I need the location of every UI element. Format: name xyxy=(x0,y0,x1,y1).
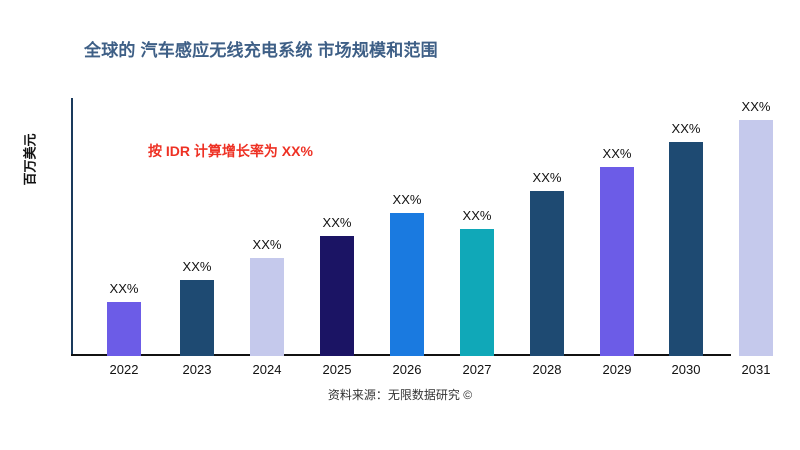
x-axis-tick-label: 2027 xyxy=(463,362,492,377)
bar-rect[interactable] xyxy=(390,213,424,356)
x-axis-tick-label: 2025 xyxy=(323,362,352,377)
bar-group[interactable]: XX%2023 xyxy=(180,0,214,450)
bar-group[interactable]: XX%2022 xyxy=(107,0,141,450)
bar-value-label: XX% xyxy=(183,259,212,274)
bar-value-label: XX% xyxy=(672,121,701,136)
bar-rect[interactable] xyxy=(460,229,494,356)
bar-group[interactable]: XX%2030 xyxy=(669,0,703,450)
x-axis-tick-label: 2029 xyxy=(603,362,632,377)
bar-rect[interactable] xyxy=(669,142,703,356)
market-size-bar-chart: 全球的 汽车感应无线充电系统 市场规模和范围 百万美元 按 IDR 计算增长率为… xyxy=(0,0,800,450)
x-axis-tick-label: 2023 xyxy=(183,362,212,377)
x-axis-tick-label: 2028 xyxy=(533,362,562,377)
bar-group[interactable]: XX%2028 xyxy=(530,0,564,450)
bar-group[interactable]: XX%2025 xyxy=(320,0,354,450)
source-note: 资料来源：无限数据研究 © xyxy=(0,386,800,403)
x-axis-tick-label: 2026 xyxy=(393,362,422,377)
x-axis-tick-label: 2031 xyxy=(742,362,771,377)
bar-rect[interactable] xyxy=(530,191,564,356)
plot-area: XX%2022XX%2023XX%2024XX%2025XX%2026XX%20… xyxy=(0,0,800,450)
bar-value-label: XX% xyxy=(603,146,632,161)
bar-rect[interactable] xyxy=(320,236,354,356)
bar-group[interactable]: XX%2029 xyxy=(600,0,634,450)
bar-group[interactable]: XX%2026 xyxy=(390,0,424,450)
bar-group[interactable]: XX%2027 xyxy=(460,0,494,450)
x-axis-tick-label: 2022 xyxy=(110,362,139,377)
bar-rect[interactable] xyxy=(739,120,773,356)
bar-group[interactable]: XX%2024 xyxy=(250,0,284,450)
bar-value-label: XX% xyxy=(253,237,282,252)
bar-value-label: XX% xyxy=(533,170,562,185)
bar-value-label: XX% xyxy=(323,215,352,230)
x-axis-tick-label: 2024 xyxy=(253,362,282,377)
bar-group[interactable]: XX%2031 xyxy=(739,0,773,450)
bar-value-label: XX% xyxy=(110,281,139,296)
bar-rect[interactable] xyxy=(250,258,284,356)
bar-value-label: XX% xyxy=(463,208,492,223)
bar-value-label: XX% xyxy=(393,192,422,207)
bar-rect[interactable] xyxy=(180,280,214,356)
bar-value-label: XX% xyxy=(742,99,771,114)
bar-rect[interactable] xyxy=(107,302,141,356)
x-axis-tick-label: 2030 xyxy=(672,362,701,377)
bar-rect[interactable] xyxy=(600,167,634,356)
